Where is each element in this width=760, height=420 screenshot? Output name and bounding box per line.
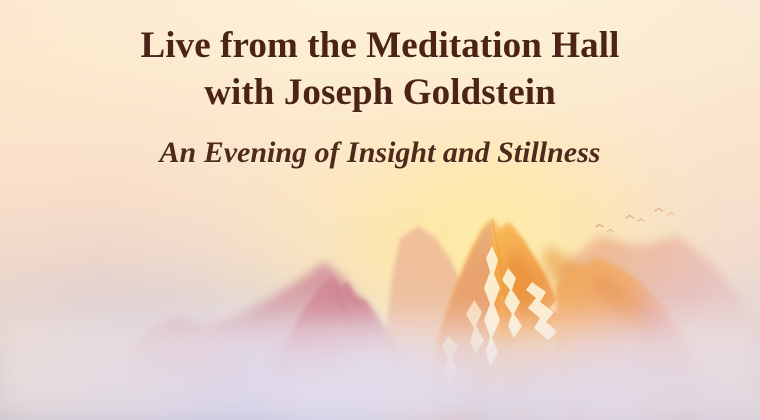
snow-streaks	[442, 246, 582, 384]
foreground-small-peak	[448, 344, 610, 420]
event-banner: Live from the Meditation Hall with Josep…	[0, 0, 760, 420]
title-line-2: with Joseph Goldstein	[0, 69, 760, 116]
right-orange-ridge	[556, 258, 706, 420]
mist-puff-left	[0, 334, 460, 420]
banner-headings: Live from the Meditation Hall with Josep…	[0, 0, 760, 171]
center-golden-peak	[420, 218, 599, 420]
far-right-ridge	[560, 236, 760, 420]
low-mist-band	[0, 300, 760, 420]
mist-puff-right	[520, 344, 760, 420]
page-subtitle: An Evening of Insight and Stillness	[0, 117, 760, 171]
mist-puff-center	[270, 352, 670, 420]
page-title: Live from the Meditation Hall with Josep…	[0, 0, 760, 117]
bird-flock	[596, 208, 674, 232]
title-line-1: Live from the Meditation Hall	[0, 22, 760, 69]
left-rose-ridge	[120, 262, 420, 420]
left-shoulder	[382, 226, 482, 420]
left-peak	[142, 276, 418, 420]
